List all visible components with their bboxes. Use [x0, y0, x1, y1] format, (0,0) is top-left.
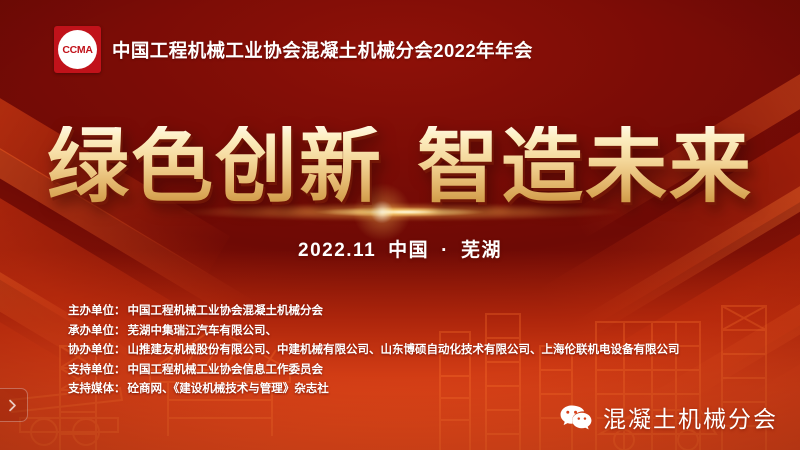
event-date: 2022.11: [298, 240, 376, 261]
ccma-logo-circle: CCMA: [58, 30, 97, 69]
credit-value: 山推建友机械股份有限公司、中建机械有限公司、山东博硕自动化技术有限公司、上海伦联…: [128, 344, 680, 356]
main-title-part2: 智造未来: [417, 121, 753, 212]
credit-value: 中国工程机械工业协会信息工作委员会: [128, 364, 324, 376]
prev-slide-button[interactable]: [0, 388, 28, 422]
credit-row-supporter: 支持单位：中国工程机械工业协会信息工作委员会: [68, 361, 680, 381]
credit-label: 支持单位：: [68, 364, 126, 376]
chevron-right-icon: [6, 399, 19, 412]
credit-label: 协办单位：: [68, 344, 126, 356]
date-location-line: 2022.11中国·芜湖: [0, 235, 800, 262]
credit-row-media: 支持媒体：砼商网、《建设机械技术与管理》杂志社: [68, 380, 680, 400]
credit-value: 中国工程机械工业协会混凝土机械分会: [128, 305, 324, 317]
wechat-icon: [559, 404, 593, 431]
header: CCMA 中国工程机械工业协会混凝土机械分会2022年年会: [54, 26, 533, 73]
credit-row-host: 承办单位：芜湖中集瑞江汽车有限公司、: [68, 322, 680, 342]
credit-row-organizer: 主办单位：中国工程机械工业协会混凝土机械分会: [68, 302, 680, 322]
credit-label: 主办单位：: [68, 305, 126, 317]
event-city: 芜湖: [461, 240, 502, 261]
wechat-badge[interactable]: 混凝土机械分会: [559, 400, 778, 434]
main-title: 绿色创新智造未来: [0, 126, 800, 208]
credits-block: 主办单位：中国工程机械工业协会混凝土机械分会 承办单位：芜湖中集瑞江汽车有限公司…: [68, 302, 680, 400]
credit-label: 承办单位：: [68, 325, 126, 337]
header-title: 中国工程机械工业协会混凝土机械分会2022年年会: [112, 37, 533, 63]
credit-row-coorganizer: 协办单位：山推建友机械股份有限公司、中建机械有限公司、山东博硕自动化技术有限公司…: [68, 341, 680, 361]
credit-label: 支持媒体：: [68, 383, 126, 395]
credit-value: 芜湖中集瑞江汽车有限公司、: [128, 325, 278, 337]
location-separator: ·: [441, 240, 449, 261]
event-country: 中国: [388, 240, 429, 261]
wechat-label: 混凝土机械分会: [603, 400, 778, 434]
conference-banner: CCMA 中国工程机械工业协会混凝土机械分会2022年年会 绿色创新智造未来 2…: [0, 0, 800, 450]
main-title-part1: 绿色创新: [47, 121, 383, 212]
ccma-logo-text: CCMA: [62, 44, 92, 56]
ccma-logo: CCMA: [54, 26, 101, 73]
credit-value: 砼商网、《建设机械技术与管理》杂志社: [128, 383, 329, 395]
